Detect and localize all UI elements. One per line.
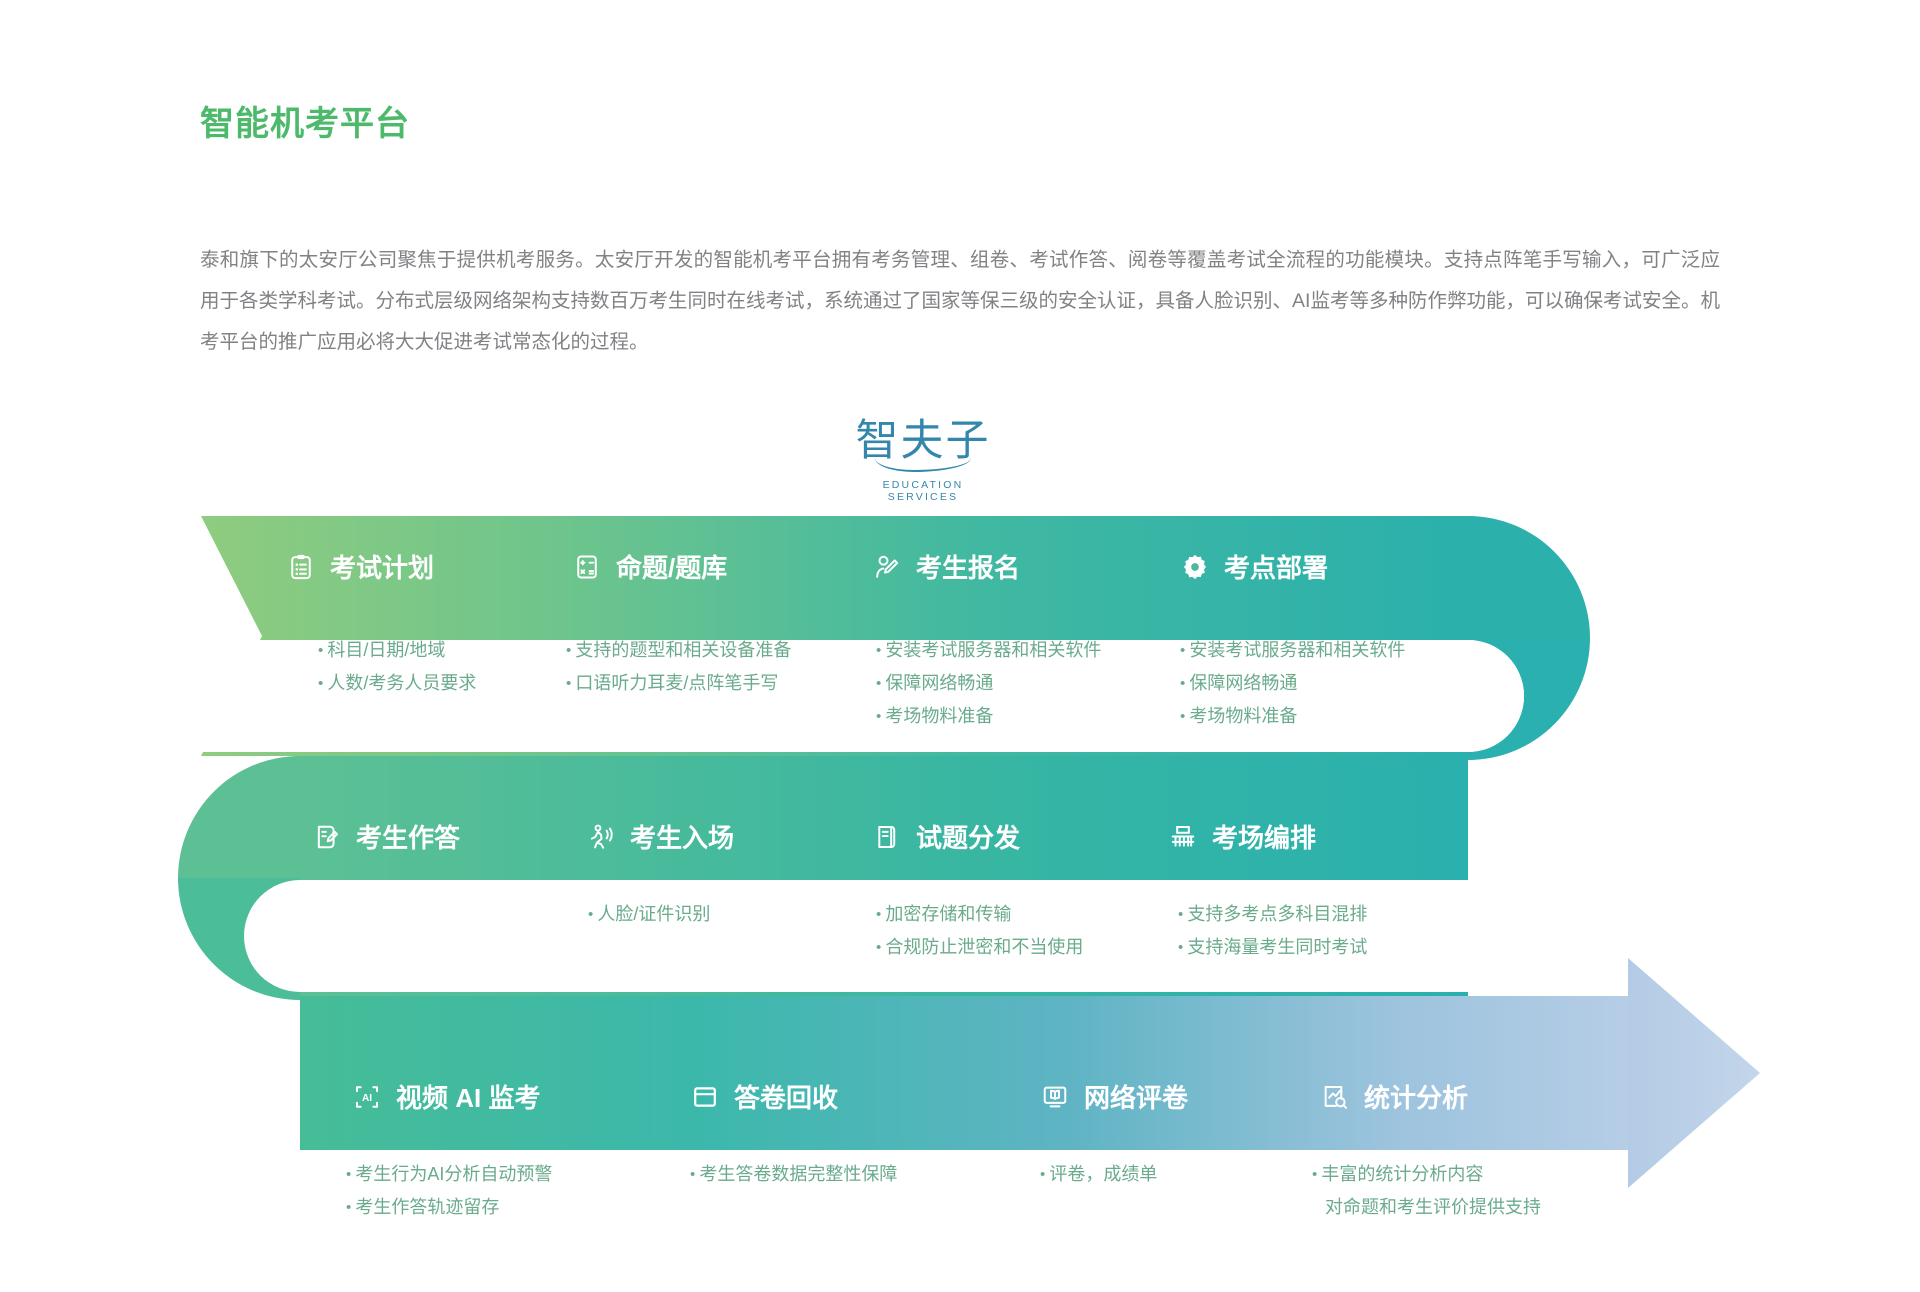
step-bullets-item-bank: 支持的题型和相关设备准备 口语听力耳麦/点阵笔手写 bbox=[566, 634, 791, 700]
step-bullets-paper-collection: 考生答卷数据完整性保障 bbox=[690, 1158, 897, 1191]
step-bullets-site-deploy: 安装考试服务器和相关软件 保障网络畅通 考场物料准备 bbox=[1180, 634, 1405, 733]
step-header-room-arrangement[interactable]: 考场编排 bbox=[1168, 818, 1316, 855]
step-label: 命题/题库 bbox=[616, 548, 727, 585]
chart-search-icon bbox=[1320, 1082, 1350, 1112]
step-bullets-online-grading: 评卷，成绩单 bbox=[1040, 1158, 1157, 1191]
step-label: 考试计划 bbox=[330, 548, 434, 585]
bullet-item: 保障网络畅通 bbox=[1180, 667, 1405, 700]
step-label: 考生作答 bbox=[356, 818, 460, 855]
bullet-item: 考生行为AI分析自动预警 bbox=[346, 1158, 552, 1191]
step-label: 考生报名 bbox=[916, 548, 1020, 585]
bullet-item: 考生答卷数据完整性保障 bbox=[690, 1158, 897, 1191]
step-label: 统计分析 bbox=[1364, 1078, 1468, 1115]
classroom-desks-icon bbox=[1168, 822, 1198, 852]
bullet-item: 安装考试服务器和相关软件 bbox=[1180, 634, 1405, 667]
bullet-item: 口语听力耳麦/点阵笔手写 bbox=[566, 667, 791, 700]
step-bullets-registration: 安装考试服务器和相关软件 保障网络畅通 考场物料准备 bbox=[876, 634, 1101, 733]
bullet-item: 加密存储和传输 bbox=[876, 898, 1083, 931]
step-header-site-deploy[interactable]: 考点部署 bbox=[1180, 548, 1328, 585]
step-bullets-exam-plan: 科目/日期/地域 人数/考务人员要求 bbox=[318, 634, 476, 700]
step-header-candidate-entry[interactable]: 考生入场 bbox=[586, 818, 734, 855]
bullet-item: 评卷，成绩单 bbox=[1040, 1158, 1157, 1191]
ai-bracket-icon: AI bbox=[352, 1082, 382, 1112]
svg-text:AI: AI bbox=[362, 1093, 372, 1104]
bullet-item: 支持的题型和相关设备准备 bbox=[566, 634, 791, 667]
step-label: 考生入场 bbox=[630, 818, 734, 855]
bullet-item: 安装考试服务器和相关软件 bbox=[876, 634, 1101, 667]
clipboard-list-icon bbox=[286, 552, 316, 582]
bullet-item: 保障网络畅通 bbox=[876, 667, 1101, 700]
bullet-item: 对命题和考生评价提供支持 bbox=[1312, 1191, 1541, 1223]
step-bullets-paper-distribution: 加密存储和传输 合规防止泄密和不当使用 bbox=[876, 898, 1083, 964]
bullet-item: 合规防止泄密和不当使用 bbox=[876, 931, 1083, 964]
bullet-item: 支持多考点多科目混排 bbox=[1178, 898, 1367, 931]
step-label: 答卷回收 bbox=[734, 1078, 838, 1115]
person-entering-icon bbox=[586, 822, 616, 852]
step-bullets-statistics: 丰富的统计分析内容 对命题和考生评价提供支持 bbox=[1312, 1158, 1541, 1223]
step-header-paper-collection[interactable]: 答卷回收 bbox=[690, 1078, 838, 1115]
step-label: 视频 AI 监考 bbox=[396, 1078, 540, 1115]
step-label: 考场编排 bbox=[1212, 818, 1316, 855]
monitor-book-icon bbox=[1040, 1082, 1070, 1112]
user-edit-icon bbox=[872, 552, 902, 582]
step-header-candidate-answer[interactable]: 考生作答 bbox=[312, 818, 460, 855]
infographic-page: 智能机考平台 泰和旗下的太安厅公司聚焦于提供机考服务。太安厅开发的智能机考平台拥… bbox=[0, 0, 1920, 1292]
bullet-item: 考场物料准备 bbox=[876, 700, 1101, 733]
bullet-item: 人脸/证件识别 bbox=[588, 898, 710, 931]
document-pen-icon bbox=[312, 822, 342, 852]
scroll-icon bbox=[872, 822, 902, 852]
bullet-item: 考场物料准备 bbox=[1180, 700, 1405, 733]
step-label: 考点部署 bbox=[1224, 548, 1328, 585]
bullet-item: 科目/日期/地域 bbox=[318, 634, 476, 667]
step-label: 试题分发 bbox=[916, 818, 1020, 855]
step-bullets-candidate-entry: 人脸/证件识别 bbox=[588, 898, 710, 931]
bullet-item: 丰富的统计分析内容 bbox=[1312, 1158, 1541, 1191]
step-header-paper-distribution[interactable]: 试题分发 bbox=[872, 818, 1020, 855]
tray-inbox-icon bbox=[690, 1082, 720, 1112]
step-header-ai-proctoring[interactable]: AI 视频 AI 监考 bbox=[352, 1078, 540, 1115]
step-header-registration[interactable]: 考生报名 bbox=[872, 548, 1020, 585]
calculator-icon bbox=[572, 552, 602, 582]
bullet-item: 支持海量考生同时考试 bbox=[1178, 931, 1367, 964]
step-header-statistics[interactable]: 统计分析 bbox=[1320, 1078, 1468, 1115]
bullet-item: 人数/考务人员要求 bbox=[318, 667, 476, 700]
step-bullets-room-arrangement: 支持多考点多科目混排 支持海量考生同时考试 bbox=[1178, 898, 1367, 964]
step-label: 网络评卷 bbox=[1084, 1078, 1188, 1115]
bullet-item: 考生作答轨迹留存 bbox=[346, 1191, 552, 1224]
step-header-item-bank[interactable]: 命题/题库 bbox=[572, 548, 727, 585]
gear-icon bbox=[1180, 552, 1210, 582]
step-header-exam-plan[interactable]: 考试计划 bbox=[286, 548, 434, 585]
step-header-online-grading[interactable]: 网络评卷 bbox=[1040, 1078, 1188, 1115]
step-bullets-ai-proctoring: 考生行为AI分析自动预警 考生作答轨迹留存 bbox=[346, 1158, 552, 1224]
